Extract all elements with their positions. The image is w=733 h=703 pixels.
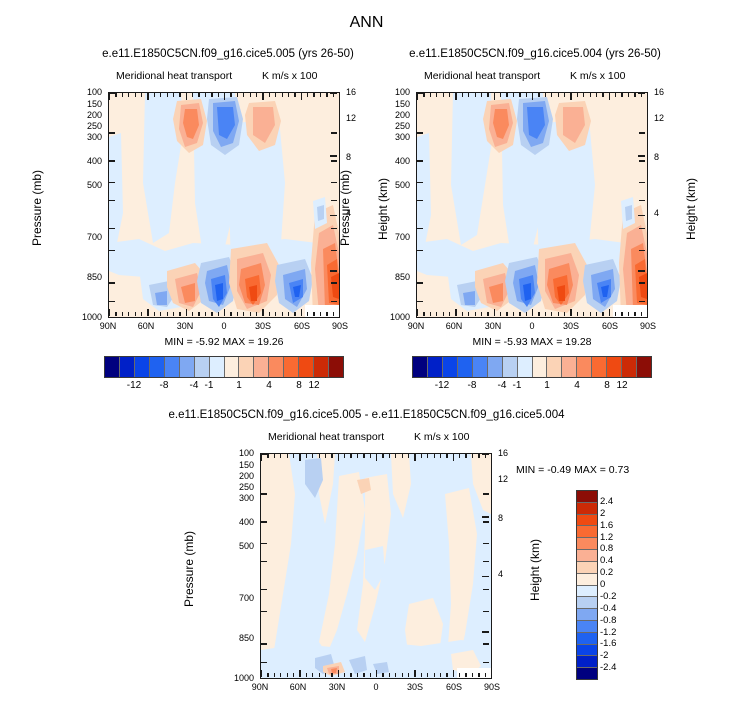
colorbar-swatch: [637, 357, 651, 377]
panel-run-004-ytick-200: 200: [376, 110, 410, 120]
colorbar-swatch: [195, 357, 210, 377]
axis-tick: [423, 93, 424, 97]
colorbar-swatch: [577, 515, 597, 527]
panel-run-005-contours: [109, 93, 339, 317]
axis-tick: [109, 132, 115, 133]
panel-run-005-ytick-400: 400: [68, 156, 102, 166]
axis-tick: [483, 662, 489, 663]
axis-tick: [269, 312, 270, 316]
axis-tick: [638, 155, 645, 156]
colorbar-tick-label: 1.2: [600, 532, 613, 543]
axis-tick: [287, 673, 288, 677]
axis-tick: [602, 312, 603, 316]
axis-tick: [357, 673, 358, 677]
axis-tick: [628, 312, 629, 316]
panel-run-004-ytick-850: 850: [376, 272, 410, 282]
axis-tick: [453, 454, 454, 461]
axis-tick: [408, 454, 409, 458]
panel-run-005-ytick-250: 250: [68, 121, 102, 131]
panel-run-004-contours: [417, 93, 647, 317]
panel-difference-ytick-400: 400: [220, 517, 254, 527]
axis-tick: [128, 93, 129, 97]
axis-tick: [382, 454, 383, 458]
axis-tick: [167, 312, 168, 316]
axis-tick: [430, 93, 431, 97]
axis-tick: [179, 93, 180, 97]
axis-tick: [483, 493, 489, 494]
colorbar-swatch: [503, 357, 518, 377]
axis-tick: [468, 312, 469, 316]
axis-tick: [417, 228, 423, 229]
axis-tick: [237, 93, 238, 97]
colorbar-swatch: [180, 357, 195, 377]
colorbar-swatch: [547, 357, 562, 377]
panel-difference-ylabel-left: Pressure (mb): [182, 531, 196, 607]
colorbar-swatch: [314, 357, 329, 377]
axis-tick: [485, 673, 486, 677]
colorbar-tick-label: -0.8: [600, 615, 616, 626]
axis-tick: [250, 312, 251, 316]
axis-tick: [280, 673, 281, 677]
axis-tick: [109, 317, 115, 318]
axis-tick: [538, 312, 539, 316]
axis-tick: [526, 312, 527, 316]
panel-run-005-xtick-30S: 30S: [245, 321, 281, 331]
colorbar-tick-label: 1: [236, 380, 242, 391]
axis-tick: [417, 182, 423, 183]
panel-run-005-ytick-850: 850: [68, 272, 102, 282]
panel-difference-contours: [261, 454, 491, 678]
colorbar-swatch: [210, 357, 225, 377]
colorbar-tick-label: -8: [160, 380, 169, 391]
axis-tick: [330, 270, 337, 271]
axis-tick: [109, 309, 110, 316]
axis-tick: [465, 673, 466, 677]
axis-tick: [294, 93, 295, 97]
colorbar-swatch: [428, 357, 443, 377]
panel-run-004-subtitle-left: Meridional heat transport: [424, 70, 540, 82]
axis-tick: [639, 250, 645, 251]
panel-run-004-xtick-90N: 90N: [398, 321, 434, 331]
axis-tick: [363, 454, 364, 458]
panel-difference-height-4: 4: [498, 569, 503, 579]
axis-tick: [319, 673, 320, 677]
colorbar-tick-label: 12: [616, 380, 627, 391]
panel-difference-xtick-60N: 60N: [280, 682, 316, 692]
panel-run-004-xtick-30N: 30N: [475, 321, 511, 331]
axis-tick: [261, 670, 262, 677]
axis-tick: [414, 670, 415, 677]
colorbar-swatch: [577, 645, 597, 657]
axis-tick: [167, 93, 168, 97]
axis-tick: [459, 454, 460, 458]
axis-tick: [532, 309, 533, 316]
axis-tick: [331, 454, 332, 458]
axis-tick: [376, 670, 377, 677]
axis-tick: [256, 312, 257, 316]
axis-tick: [436, 93, 437, 97]
panel-difference-xtick-90S: 90S: [474, 682, 510, 692]
axis-tick: [320, 93, 321, 97]
axis-tick: [417, 132, 423, 133]
colorbar-tick-label: 8: [296, 380, 302, 391]
panel-run-005-title: e.e11.E1850C5CN.f09_g16.cice5.005 (yrs 2…: [48, 48, 408, 60]
axis-tick: [443, 312, 444, 316]
axis-tick: [282, 312, 283, 316]
axis-tick: [564, 93, 565, 97]
axis-tick: [128, 312, 129, 316]
axis-tick: [370, 454, 371, 458]
axis-tick: [482, 576, 489, 577]
axis-tick: [449, 93, 450, 97]
axis-tick: [446, 673, 447, 677]
panel-difference-colorbar[interactable]: [576, 490, 598, 680]
axis-tick: [519, 93, 520, 97]
colorbar-tick-label: 4: [266, 380, 272, 391]
panel-run-004-plot[interactable]: [416, 92, 648, 318]
axis-tick: [641, 312, 642, 316]
panel-difference-ytick-500: 500: [220, 541, 254, 551]
axis-tick: [558, 93, 559, 97]
panel-difference-height-8: 8: [498, 513, 503, 523]
axis-tick: [274, 454, 275, 458]
colorbar-swatch: [225, 357, 240, 377]
axis-tick: [306, 454, 307, 458]
axis-tick: [261, 589, 267, 590]
axis-tick: [287, 454, 288, 458]
axis-tick: [339, 309, 340, 316]
axis-tick: [109, 160, 115, 161]
colorbar-swatch: [562, 357, 577, 377]
axis-tick: [218, 93, 219, 97]
axis-tick: [417, 250, 423, 251]
panel-run-005-subtitle-left: Meridional heat transport: [116, 70, 232, 82]
axis-tick: [243, 312, 244, 316]
colorbar-swatch: [577, 597, 597, 609]
panel-run-004-minmax: MIN = -5.93 MAX = 19.28: [416, 336, 648, 348]
axis-tick: [564, 312, 565, 316]
axis-tick: [357, 454, 358, 458]
axis-tick: [339, 93, 340, 100]
axis-tick: [256, 93, 257, 97]
colorbar-tick-label: 1.6: [600, 520, 613, 531]
axis-tick: [154, 93, 155, 97]
axis-tick: [395, 673, 396, 677]
axis-tick: [109, 182, 115, 183]
axis-tick: [299, 454, 300, 461]
axis-tick: [590, 312, 591, 316]
axis-tick: [481, 93, 482, 97]
colorbar-swatch: [592, 357, 607, 377]
colorbar-swatch: [577, 491, 597, 503]
axis-tick: [621, 312, 622, 316]
axis-tick: [115, 93, 116, 97]
axis-tick: [141, 312, 142, 316]
axis-tick: [307, 93, 308, 97]
axis-tick: [192, 312, 193, 316]
panel-difference-height-12: 12: [498, 474, 508, 484]
axis-tick: [370, 673, 371, 677]
axis-tick: [513, 93, 514, 97]
axis-tick: [288, 312, 289, 316]
panel-run-005-subtitle-right: K m/s x 100: [262, 70, 317, 82]
colorbar-swatch: [329, 357, 343, 377]
axis-tick: [267, 454, 268, 458]
axis-tick: [261, 561, 267, 562]
colorbar-tick-label: 1: [544, 380, 550, 391]
axis-tick: [483, 521, 489, 522]
axis-tick: [494, 309, 495, 316]
axis-tick: [299, 670, 300, 677]
axis-tick: [615, 312, 616, 316]
axis-tick: [596, 93, 597, 97]
colorbar-swatch: [607, 357, 622, 377]
axis-tick: [434, 673, 435, 677]
axis-tick: [331, 160, 337, 161]
panel-difference-minmax: MIN = -0.49 MAX = 0.73: [516, 464, 629, 476]
axis-tick: [280, 454, 281, 458]
axis-tick: [639, 160, 645, 161]
panel-difference-plot[interactable]: [260, 453, 492, 679]
axis-tick: [211, 312, 212, 316]
axis-tick: [459, 673, 460, 677]
axis-tick: [262, 309, 263, 316]
colorbar-swatch: [269, 357, 284, 377]
axis-tick: [109, 93, 110, 100]
colorbar-swatch: [239, 357, 254, 377]
colorbar-swatch: [577, 503, 597, 515]
axis-tick: [621, 93, 622, 97]
panel-run-004-xtick-60N: 60N: [436, 321, 472, 331]
axis-tick: [313, 93, 314, 97]
axis-tick: [331, 282, 337, 283]
axis-tick: [551, 93, 552, 97]
axis-tick: [628, 93, 629, 97]
axis-tick: [475, 93, 476, 97]
axis-tick: [487, 312, 488, 316]
axis-tick: [331, 301, 337, 302]
axis-tick: [230, 93, 231, 97]
axis-tick: [483, 611, 489, 612]
axis-tick: [288, 93, 289, 97]
axis-tick: [330, 155, 337, 156]
axis-tick: [313, 312, 314, 316]
axis-tick: [532, 93, 533, 100]
panel-run-005-ytick-300: 300: [68, 132, 102, 142]
panel-run-005-colorbar[interactable]: [104, 356, 344, 378]
axis-tick: [179, 312, 180, 316]
axis-tick: [243, 93, 244, 97]
axis-tick: [638, 93, 645, 94]
colorbar-tick-label: -0.2: [600, 591, 616, 602]
panel-difference-xtick-0: 0: [358, 682, 394, 692]
axis-tick: [638, 215, 645, 216]
colorbar-tick-label: 8: [604, 380, 610, 391]
axis-tick: [472, 454, 473, 458]
axis-tick: [506, 312, 507, 316]
axis-tick: [224, 309, 225, 316]
axis-tick: [519, 312, 520, 316]
page-title: ANN: [0, 14, 733, 32]
axis-tick: [382, 673, 383, 677]
axis-tick: [478, 454, 479, 458]
panel-run-005-ytick-700: 700: [68, 232, 102, 242]
panel-run-004-ytick-700: 700: [376, 232, 410, 242]
panel-run-004-xtick-60S: 60S: [592, 321, 628, 331]
panel-run-004-colorbar[interactable]: [412, 356, 652, 378]
axis-tick: [443, 93, 444, 97]
panel-run-004-colorbar-ticks: -12-8-4-114812: [412, 380, 652, 396]
axis-tick: [250, 93, 251, 97]
axis-tick: [269, 93, 270, 97]
axis-tick: [154, 312, 155, 316]
colorbar-tick-label: -1.2: [600, 627, 616, 638]
axis-tick: [551, 312, 552, 316]
axis-tick: [427, 673, 428, 677]
panel-difference-ytick-250: 250: [220, 482, 254, 492]
axis-tick: [446, 454, 447, 458]
panel-run-005-ylabel-left: Pressure (mb): [30, 170, 44, 246]
panel-difference-colorbar-ticks: 2.421.61.20.80.40.20-0.2-0.4-0.8-1.2-1.6…: [600, 490, 650, 680]
panel-run-004-height-16: 16: [654, 87, 664, 97]
axis-tick: [160, 93, 161, 97]
panel-run-005-plot[interactable]: [108, 92, 340, 318]
axis-tick: [262, 93, 263, 100]
axis-tick: [319, 454, 320, 458]
axis-tick: [402, 673, 403, 677]
axis-tick: [160, 312, 161, 316]
colorbar-swatch: [473, 357, 488, 377]
colorbar-swatch: [577, 574, 597, 586]
axis-tick: [331, 228, 337, 229]
panel-run-005-minmax: MIN = -5.92 MAX = 19.26: [108, 336, 340, 348]
panel-difference-ytick-850: 850: [220, 633, 254, 643]
colorbar-swatch: [254, 357, 269, 377]
axis-tick: [320, 312, 321, 316]
axis-tick: [482, 516, 489, 517]
axis-tick: [205, 312, 206, 316]
axis-tick: [331, 200, 337, 201]
panel-run-004-height-12: 12: [654, 113, 664, 123]
axis-tick: [301, 93, 302, 100]
axis-tick: [326, 312, 327, 316]
axis-tick: [482, 454, 489, 455]
panel-difference-ytick-100: 100: [220, 448, 254, 458]
axis-tick: [417, 317, 423, 318]
axis-tick: [647, 93, 648, 100]
panel-run-005-xtick-60S: 60S: [284, 321, 320, 331]
axis-tick: [427, 454, 428, 458]
axis-tick: [440, 454, 441, 458]
axis-tick: [513, 312, 514, 316]
axis-tick: [538, 93, 539, 97]
panel-run-005-xtick-60N: 60N: [128, 321, 164, 331]
axis-tick: [462, 93, 463, 97]
axis-tick: [261, 521, 267, 522]
axis-tick: [109, 282, 115, 283]
axis-tick: [122, 93, 123, 97]
colorbar-tick-label: 0.4: [600, 555, 613, 566]
axis-tick: [483, 543, 489, 544]
axis-tick: [312, 673, 313, 677]
axis-tick: [275, 93, 276, 97]
colorbar-swatch: [577, 538, 597, 550]
colorbar-swatch: [577, 633, 597, 645]
axis-tick: [481, 312, 482, 316]
axis-tick: [115, 312, 116, 316]
panel-run-005-height-16: 16: [346, 87, 356, 97]
colorbar-swatch: [518, 357, 533, 377]
axis-tick: [338, 670, 339, 677]
axis-tick: [331, 250, 337, 251]
panel-run-005-ytick-500: 500: [68, 180, 102, 190]
colorbar-tick-label: -4: [190, 380, 199, 391]
axis-tick: [526, 93, 527, 97]
axis-tick: [211, 93, 212, 97]
panel-run-004-ylabel-right: Height (km): [684, 178, 698, 240]
axis-tick: [602, 93, 603, 97]
axis-tick: [141, 93, 142, 97]
axis-tick: [261, 543, 267, 544]
axis-tick: [261, 662, 267, 663]
panel-difference-subtitle-left: Meridional heat transport: [268, 431, 384, 443]
axis-tick: [417, 160, 423, 161]
colorbar-swatch: [577, 621, 597, 633]
colorbar-tick-label: -8: [468, 380, 477, 391]
axis-tick: [274, 673, 275, 677]
axis-tick: [109, 250, 115, 251]
axis-tick: [109, 301, 115, 302]
axis-tick: [483, 561, 489, 562]
panel-run-004-ytick-300: 300: [376, 132, 410, 142]
panel-difference-subtitle-right: K m/s x 100: [414, 431, 469, 443]
axis-tick: [135, 93, 136, 97]
axis-tick: [491, 454, 492, 461]
panel-run-005-ytick-100: 100: [68, 87, 102, 97]
colorbar-swatch: [150, 357, 165, 377]
colorbar-swatch: [458, 357, 473, 377]
axis-tick: [333, 312, 334, 316]
panel-run-005-colorbar-ticks: -12-8-4-114812: [104, 380, 344, 396]
axis-tick: [389, 673, 390, 677]
panel-difference-xtick-60S: 60S: [436, 682, 472, 692]
axis-tick: [478, 673, 479, 677]
panel-difference-xtick-30N: 30N: [319, 682, 355, 692]
panel-run-004-xtick-90S: 90S: [630, 321, 666, 331]
axis-tick: [647, 309, 648, 316]
axis-tick: [421, 454, 422, 458]
axis-tick: [558, 312, 559, 316]
axis-tick: [294, 312, 295, 316]
axis-tick: [570, 93, 571, 100]
colorbar-tick-label: 2.4: [600, 496, 613, 507]
axis-tick: [350, 454, 351, 458]
axis-tick: [224, 93, 225, 100]
axis-tick: [414, 454, 415, 461]
panel-run-004-ytick-100: 100: [376, 87, 410, 97]
axis-tick: [301, 309, 302, 316]
axis-tick: [634, 312, 635, 316]
axis-tick: [483, 678, 489, 679]
axis-tick: [282, 93, 283, 97]
axis-tick: [325, 454, 326, 458]
axis-tick: [494, 93, 495, 100]
axis-tick: [639, 182, 645, 183]
axis-tick: [261, 678, 267, 679]
panel-run-004-ylabel-left: Pressure (mb): [338, 170, 352, 246]
panel-run-004-ytick-150: 150: [376, 99, 410, 109]
axis-tick: [275, 312, 276, 316]
